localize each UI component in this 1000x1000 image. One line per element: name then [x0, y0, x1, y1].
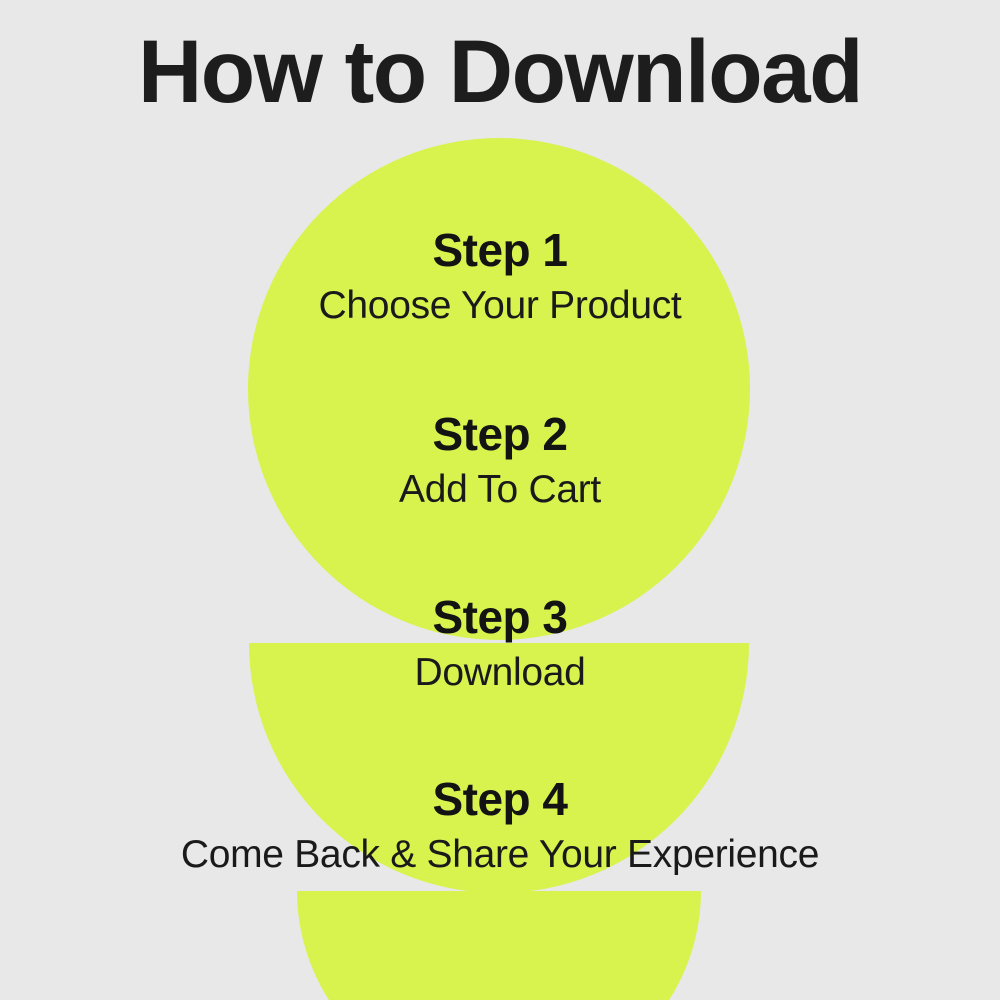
step-1-description: Choose Your Product	[0, 283, 1000, 330]
step-2-number: Step 2	[0, 407, 1000, 461]
step-item-3: Step 3 Download	[0, 590, 1000, 697]
step-item-1: Step 1 Choose Your Product	[0, 223, 1000, 330]
page-title: How to Download	[0, 24, 1000, 118]
step-4-description: Come Back & Share Your Experience	[0, 832, 1000, 879]
step-1-number: Step 1	[0, 223, 1000, 277]
step-item-2: Step 2 Add To Cart	[0, 407, 1000, 514]
step-4-number: Step 4	[0, 772, 1000, 826]
content-layer: How to Download Step 1 Choose Your Produ…	[0, 0, 1000, 1000]
infographic-canvas: How to Download Step 1 Choose Your Produ…	[0, 0, 1000, 1000]
step-2-description: Add To Cart	[0, 467, 1000, 514]
step-3-description: Download	[0, 650, 1000, 697]
step-item-4: Step 4 Come Back & Share Your Experience	[0, 772, 1000, 879]
step-3-number: Step 3	[0, 590, 1000, 644]
